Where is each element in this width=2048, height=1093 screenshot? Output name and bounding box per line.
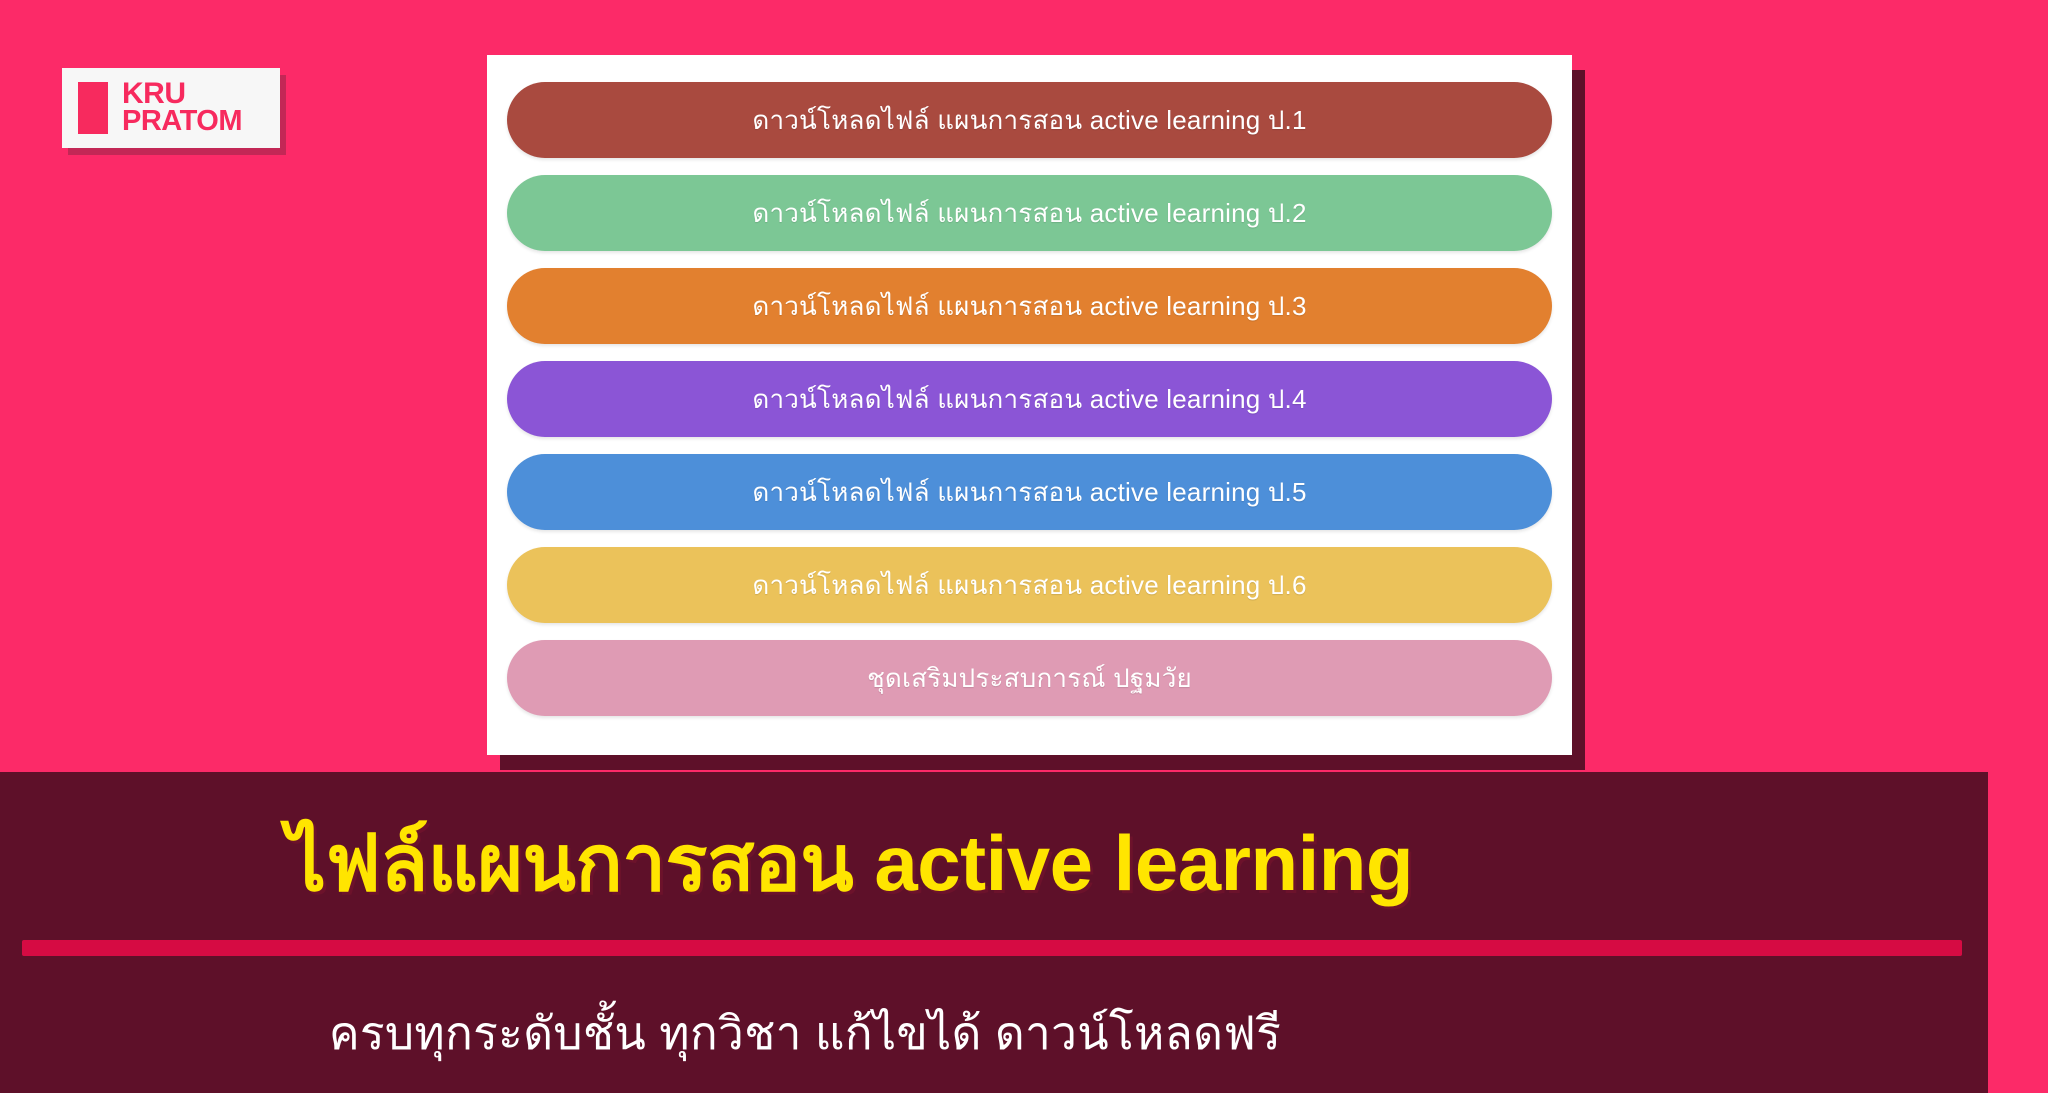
brand-logo: KRU PRATOM [62, 68, 280, 148]
download-button-label: ชุดเสริมประสบการณ์ ปฐมวัย [867, 658, 1192, 699]
download-button-label: ดาวน์โหลดไฟล์ แผนการสอน active learning … [752, 100, 1306, 141]
download-button-label: ดาวน์โหลดไฟล์ แผนการสอน active learning … [752, 565, 1306, 606]
logo-line-1: KRU [122, 80, 242, 109]
download-button-label: ดาวน์โหลดไฟล์ แผนการสอน active learning … [752, 472, 1306, 513]
download-card: ดาวน์โหลดไฟล์ แผนการสอน active learning … [487, 55, 1572, 755]
download-button-p1[interactable]: ดาวน์โหลดไฟล์ แผนการสอน active learning … [507, 82, 1552, 158]
download-button-p2[interactable]: ดาวน์โหลดไฟล์ แผนการสอน active learning … [507, 175, 1552, 251]
logo-line-2: PRATOM [122, 108, 242, 136]
download-button-list: ดาวน์โหลดไฟล์ แผนการสอน active learning … [507, 82, 1552, 733]
download-button-p4[interactable]: ดาวน์โหลดไฟล์ แผนการสอน active learning … [507, 361, 1552, 437]
banner-subtitle: ครบทุกระดับชั้น ทุกวิชา แก้ไขได้ ดาวน์โห… [0, 1010, 1610, 1056]
banner-title: ไฟล์แผนการสอน active learning [0, 824, 1700, 902]
logo-mark-icon [78, 82, 108, 134]
download-button-p3[interactable]: ดาวน์โหลดไฟล์ แผนการสอน active learning … [507, 268, 1552, 344]
download-button-label: ดาวน์โหลดไฟล์ แผนการสอน active learning … [752, 379, 1306, 420]
banner-right-edge [1988, 772, 2048, 1093]
download-button-kindergarten[interactable]: ชุดเสริมประสบการณ์ ปฐมวัย [507, 640, 1552, 716]
banner-divider [22, 940, 1962, 956]
download-button-p5[interactable]: ดาวน์โหลดไฟล์ แผนการสอน active learning … [507, 454, 1552, 530]
download-button-label: ดาวน์โหลดไฟล์ แผนการสอน active learning … [752, 193, 1306, 234]
download-button-p6[interactable]: ดาวน์โหลดไฟล์ แผนการสอน active learning … [507, 547, 1552, 623]
bottom-banner: ไฟล์แผนการสอน active learning ครบทุกระดั… [0, 772, 1988, 1093]
logo-wordmark: KRU PRATOM [122, 80, 242, 136]
download-button-label: ดาวน์โหลดไฟล์ แผนการสอน active learning … [752, 286, 1306, 327]
